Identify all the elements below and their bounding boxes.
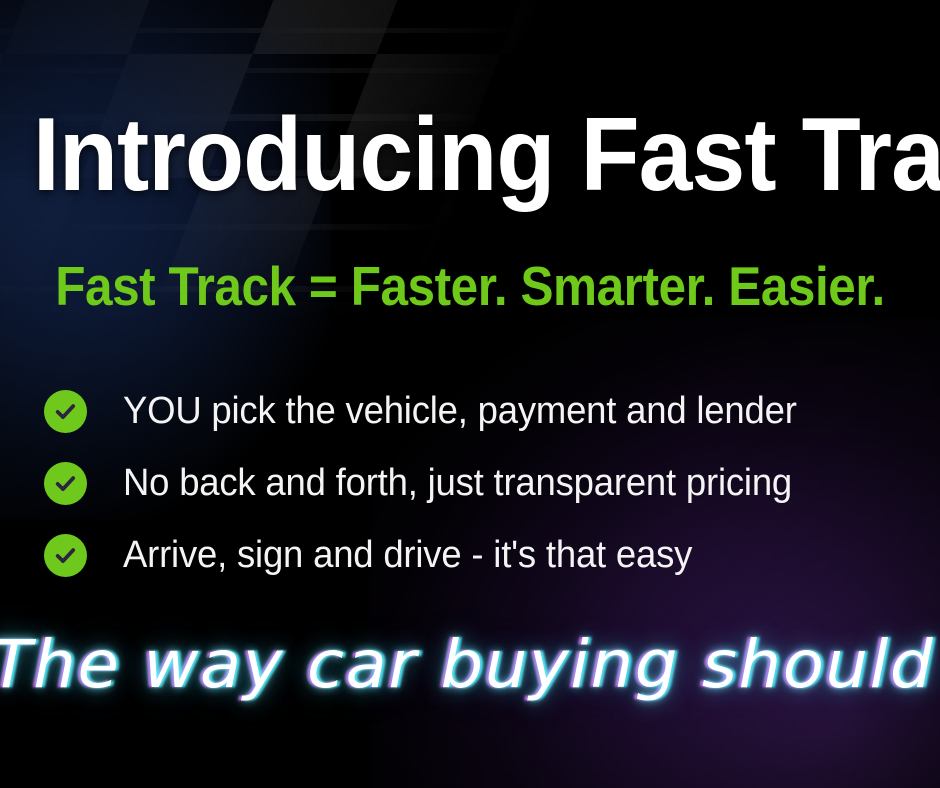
check-circle-icon [44, 534, 87, 577]
benefit-list: YOU pick the vehicle, payment and lender… [44, 375, 904, 591]
list-item: YOU pick the vehicle, payment and lender [44, 375, 904, 447]
list-item: Arrive, sign and drive - it's that easy [44, 519, 904, 591]
tagline-block: The way car buying should be. The way ca… [0, 612, 940, 722]
tagline-text: The way car buying should be. [0, 612, 940, 717]
poster-content: Introducing Fast Track Fast Track = Fast… [0, 0, 940, 788]
benefit-label: No back and forth, just transparent pric… [123, 464, 792, 502]
benefit-label: YOU pick the vehicle, payment and lender [123, 392, 797, 430]
check-circle-icon [44, 390, 87, 433]
benefit-label: Arrive, sign and drive - it's that easy [123, 536, 692, 574]
check-circle-icon [44, 462, 87, 505]
list-item: No back and forth, just transparent pric… [44, 447, 904, 519]
page-title: Introducing Fast Track [33, 103, 907, 207]
subtitle: Fast Track = Faster. Smarter. Easier. [47, 259, 893, 314]
fast-track-promo-poster: Introducing Fast Track Fast Track = Fast… [0, 0, 940, 788]
